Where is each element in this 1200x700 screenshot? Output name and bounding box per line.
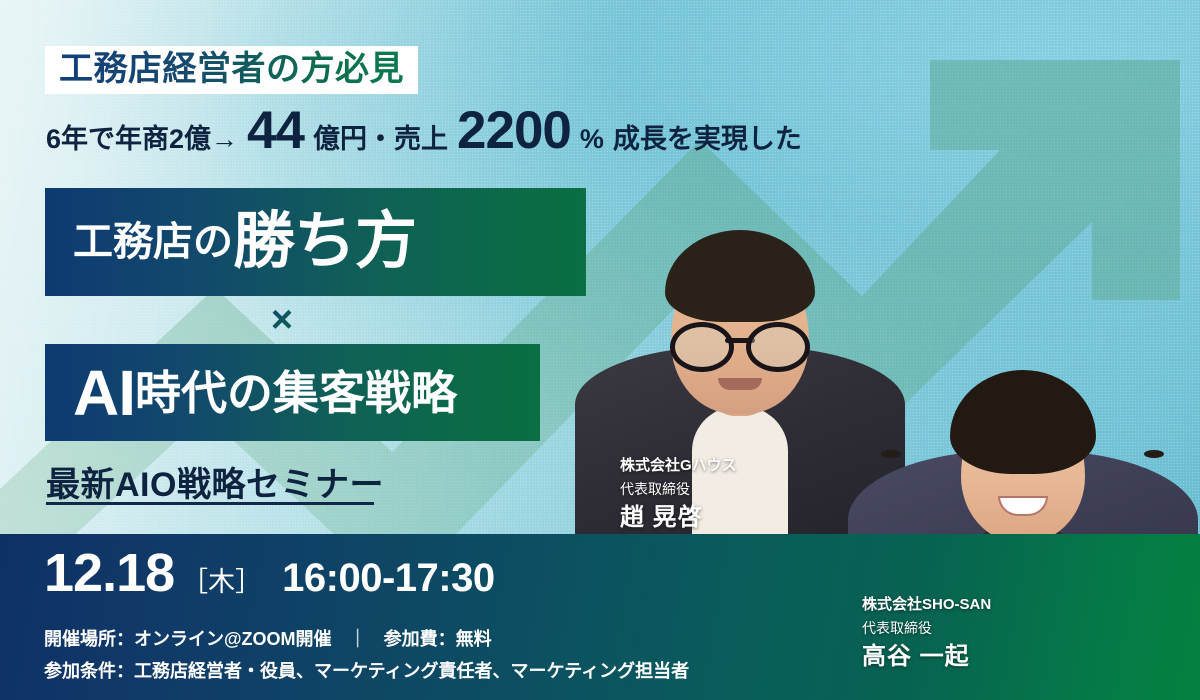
event-venue: 開催場所：オンライン@ZOOM開催 [44,629,332,649]
speaker-2-name: 高谷 一起 [862,639,991,675]
headline-prefix: 6年で年商2億→ [46,117,238,156]
speaker-1-mouth [718,378,762,390]
glasses-lens-left [670,322,734,372]
speaker-2-caption: 株式会社SHO-SAN 代表取締役 高谷 一起 [862,594,991,675]
speaker-2-eye-right [1144,450,1164,458]
title-bar2-rest: 時代の集客戦略 [135,370,457,416]
title-bar1-large: 勝ち方 [233,211,416,273]
speaker-2-role: 代表取締役 [862,617,991,639]
headline-stat-revenue: 44 [247,104,304,157]
event-dayofweek: ［木］ [181,569,262,596]
event-meta-line-1: 開催場所：オンライン@ZOOM開催 ｜ 参加費：無料 [44,625,492,651]
glasses-lens-right [746,322,810,372]
audience-badge-label: 工務店経営者の方必見 [59,50,404,88]
stat-headline: 6年で年商2億→ 44 億円・売上 2200 % 成長を実現した [46,104,802,157]
schedule-datetime: 12.18 ［木］ 16:00-17:30 [44,546,495,600]
meta-separator: ｜ [349,625,367,651]
webinar-banner: 工務店経営者の方必見 6年で年商2億→ 44 億円・売上 2200 % 成長を実… [0,0,1200,700]
speaker-2-company: 株式会社SHO-SAN [862,594,991,617]
headline-percent-sign: % [580,124,604,155]
event-meta-line-2: 参加条件：工務店経営者・役員、マーケティング責任者、マーケティング担当者 [44,657,689,683]
speaker-2-eye-left [881,450,901,458]
title-bar-secondary: AI 時代の集客戦略 [45,344,540,441]
headline-mid-1: 億円・売上 [313,117,448,156]
subtitle-underline [46,502,374,505]
title-bar1-small: 工務店の [73,222,233,262]
speaker-1-name: 趙 晃啓 [620,500,737,536]
headline-suffix: 成長を実現した [613,117,802,156]
event-time: 16:00-17:30 [282,558,494,598]
speaker-2-hair [950,370,1096,474]
title-bar2-ai: AI [73,361,135,425]
times-separator-icon: × [262,300,302,340]
event-fee: 参加費：無料 [384,629,492,649]
speaker-1-role: 代表取締役 [620,478,737,500]
speaker-1-caption: 株式会社Gハウス 代表取締役 趙 晃啓 [620,455,737,536]
title-bar-primary: 工務店の 勝ち方 [45,188,586,296]
event-date: 12.18 [44,546,174,600]
speaker-1-hair [665,230,815,322]
speaker-1-company: 株式会社Gハウス [620,455,737,478]
audience-badge: 工務店経営者の方必見 [45,46,418,94]
seminar-subtitle: 最新AIO戦略セミナー [46,457,384,506]
speaker-1-glasses-icon [670,322,810,362]
headline-stat-growth: 2200 [457,104,571,157]
